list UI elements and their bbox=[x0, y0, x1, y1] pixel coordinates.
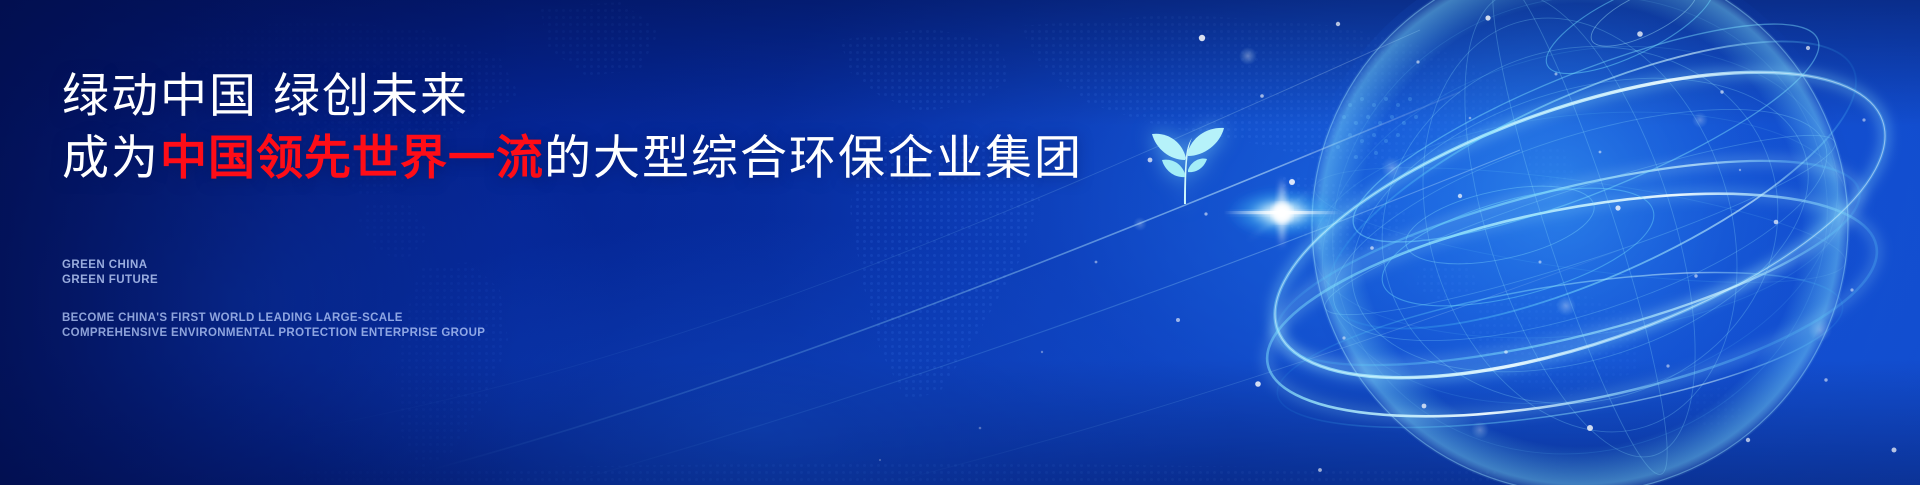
light-burst-icon bbox=[1222, 168, 1342, 258]
tagline-line-2: GREEN FUTURE bbox=[62, 273, 158, 288]
headline-prefix: 成为 bbox=[62, 131, 160, 184]
tagline-block: GREEN CHINA GREEN FUTURE bbox=[62, 258, 158, 287]
headline-line-1: 绿动中国 绿创未来 bbox=[62, 69, 469, 122]
tagline-line-1: GREEN CHINA bbox=[62, 258, 158, 273]
green-sprout-icon bbox=[1140, 118, 1226, 210]
subline-line-2: COMPREHENSIVE ENVIRONMENTAL PROTECTION E… bbox=[62, 326, 485, 341]
headline-highlight: 中国领先世界一流 bbox=[160, 131, 544, 184]
hero-banner: 绿动中国 绿创未来 成为中国领先世界一流的大型综合环保企业集团 GREEN CH… bbox=[0, 0, 1920, 485]
headline-line-2: 成为中国领先世界一流的大型综合环保企业集团 bbox=[62, 128, 1062, 188]
wireframe-globe-icon bbox=[1200, 0, 1920, 485]
page-title: 绿动中国 绿创未来 成为中国领先世界一流的大型综合环保企业集团 bbox=[62, 66, 1062, 188]
headline-block: 绿动中国 绿创未来 成为中国领先世界一流的大型综合环保企业集团 bbox=[62, 66, 1062, 188]
headline-suffix: 的大型综合环保企业集团 bbox=[544, 131, 1083, 184]
subline-block: BECOME CHINA'S FIRST WORLD LEADING LARGE… bbox=[62, 311, 485, 340]
subline-line-1: BECOME CHINA'S FIRST WORLD LEADING LARGE… bbox=[62, 311, 485, 326]
